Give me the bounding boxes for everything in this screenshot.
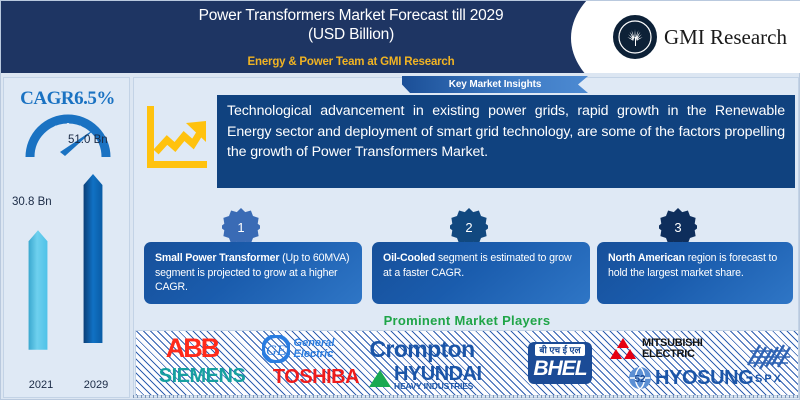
insight-card-body-1: Small Power Transformer (Up to 60MVA) se… bbox=[155, 251, 353, 295]
page-title-line1: Power Transformers Market Forecast till … bbox=[131, 6, 571, 25]
hyosung-globe-icon: 52 bbox=[628, 366, 652, 390]
bar-value-2029: 51.0 Bn bbox=[68, 134, 108, 146]
header-title-group: Power Transformers Market Forecast till … bbox=[131, 6, 571, 44]
logo-hyosung-text: HYOSUNG bbox=[655, 367, 753, 390]
gmi-research-logo: GMI Research bbox=[613, 15, 787, 59]
logo-siemens-text: SIEMENS bbox=[159, 365, 246, 388]
logo-abb: ABB bbox=[144, 334, 240, 362]
header-banner: Power Transformers Market Forecast till … bbox=[1, 1, 800, 73]
bar-label-2029: 2029 bbox=[76, 379, 116, 391]
infographic-root: Power Transformers Market Forecast till … bbox=[0, 0, 800, 400]
bar-label-2021: 2021 bbox=[21, 379, 61, 391]
palm-fan-logo-icon bbox=[613, 15, 657, 59]
hyundai-triangle-icon bbox=[368, 368, 392, 388]
growth-chart-icon bbox=[142, 100, 212, 180]
bar-value-2021: 30.8 Bn bbox=[12, 196, 52, 208]
badge-label-2: 2 bbox=[465, 220, 472, 235]
insight-card-text-box-3: North American region is forecast to hol… bbox=[597, 242, 793, 304]
logo-toshiba: TOSHIBA bbox=[256, 365, 376, 389]
logo-mitsubishi-electric-text: ELECTRIC bbox=[642, 349, 703, 360]
svg-text:52: 52 bbox=[634, 374, 646, 385]
key-insight-box: Technological advancement in existing po… bbox=[217, 95, 795, 188]
badge-label-1: 1 bbox=[237, 220, 244, 235]
logo-crompton: Crompton bbox=[354, 334, 490, 364]
badge-number-1: 1 bbox=[222, 208, 260, 246]
bar-column-2029 bbox=[82, 151, 104, 371]
logo-electric-text: Electric bbox=[294, 349, 335, 360]
svg-text:GE: GE bbox=[266, 343, 286, 359]
mitsubishi-three-diamonds-icon bbox=[608, 336, 638, 362]
key-market-insights-ribbon: Key Market Insights bbox=[402, 76, 588, 93]
logo-abb-text: ABB bbox=[166, 333, 219, 364]
spx-mark-icon bbox=[744, 341, 794, 373]
badge-label-3: 3 bbox=[674, 220, 681, 235]
bar-column-2021 bbox=[27, 214, 49, 371]
prominent-market-players-heading: Prominent Market Players bbox=[134, 313, 800, 328]
insights-panel: Key Market Insights Technological advanc… bbox=[133, 77, 799, 398]
badge-number-2: 2 bbox=[450, 208, 488, 246]
header-subtitle: Energy & Power Team at GMI Research bbox=[131, 56, 571, 68]
brand-name: GMI Research bbox=[664, 25, 787, 50]
insight-card-text-box-1: Small Power Transformer (Up to 60MVA) se… bbox=[144, 242, 362, 304]
logo-toshiba-text: TOSHIBA bbox=[273, 366, 359, 389]
logo-siemens: SIEMENS bbox=[154, 364, 250, 388]
insight-card-body-3: North American region is forecast to hol… bbox=[608, 251, 784, 280]
logo-hyundai-text: HYUNDAI bbox=[394, 366, 482, 382]
insight-card-text-box-2: Oil-Cooled segment is estimated to grow … bbox=[372, 242, 590, 304]
logo-spx-text: SPX bbox=[755, 373, 783, 385]
ribbon-label: Key Market Insights bbox=[449, 79, 542, 90]
badge-number-3: 3 bbox=[659, 208, 697, 246]
logo-hyundai-sub-text: HEAVY INDUSTRIES bbox=[394, 382, 482, 391]
logo-bhel-text: BHEL bbox=[533, 356, 586, 382]
cagr-value-label: CAGR6.5% bbox=[4, 88, 131, 110]
logo-spx: SPX bbox=[740, 335, 798, 391]
logo-crompton-text: Crompton bbox=[369, 336, 474, 363]
logo-mitsubishi-electric: MITSUBISHI ELECTRIC bbox=[608, 335, 748, 363]
logo-bhel-devanagari-text: बी एच ई एल bbox=[535, 344, 584, 356]
ge-monogram-icon: GE bbox=[262, 335, 290, 363]
page-title-line2: (USD Billion) bbox=[131, 25, 571, 44]
logo-hyundai: HYUNDAI HEAVY INDUSTRIES bbox=[368, 363, 514, 393]
insight-card-bold-2: Oil-Cooled bbox=[383, 252, 438, 264]
cagr-panel: CAGR6.5% 30.8 Bn bbox=[3, 77, 130, 398]
insight-card-body-2: Oil-Cooled segment is estimated to grow … bbox=[383, 251, 581, 280]
key-insight-text: Technological advancement in existing po… bbox=[227, 101, 785, 163]
insight-card-bold-1: Small Power Transformer bbox=[155, 252, 282, 264]
logo-general-electric: GE General Electric bbox=[243, 334, 353, 364]
insight-card-bold-3: North American bbox=[608, 252, 688, 264]
logo-bhel: बी एच ई एल BHEL bbox=[516, 335, 604, 391]
bottom-dotted-divider bbox=[133, 395, 799, 398]
market-players-logo-strip: ABB SIEMENS GE General Electric TOSHIBA bbox=[135, 330, 799, 396]
